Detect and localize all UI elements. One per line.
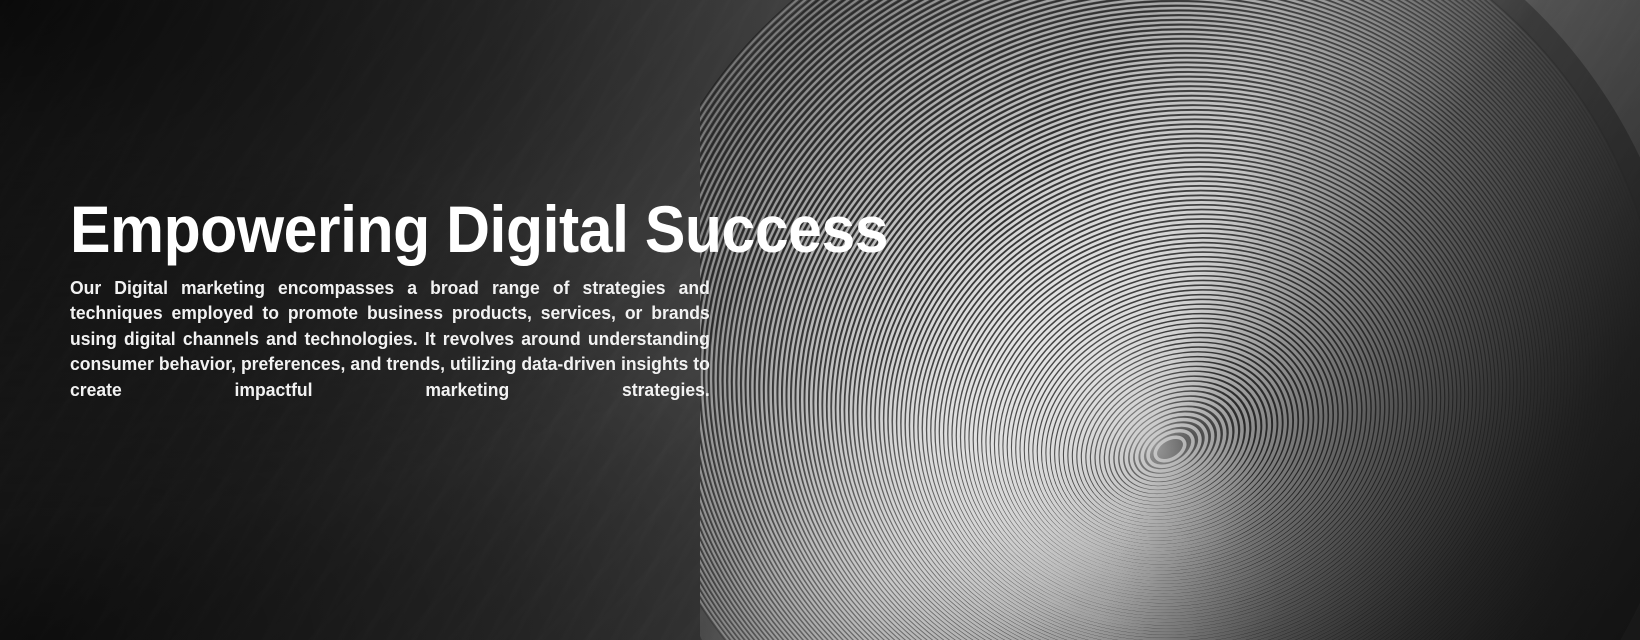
hero-description: Our Digital marketing encompasses a broa… xyxy=(70,276,710,428)
hero-copy: Empowering Digital Success Our Digital m… xyxy=(70,196,735,428)
page-title: Empowering Digital Success xyxy=(70,196,682,262)
hero-banner: Empowering Digital Success Our Digital m… xyxy=(0,0,1640,640)
